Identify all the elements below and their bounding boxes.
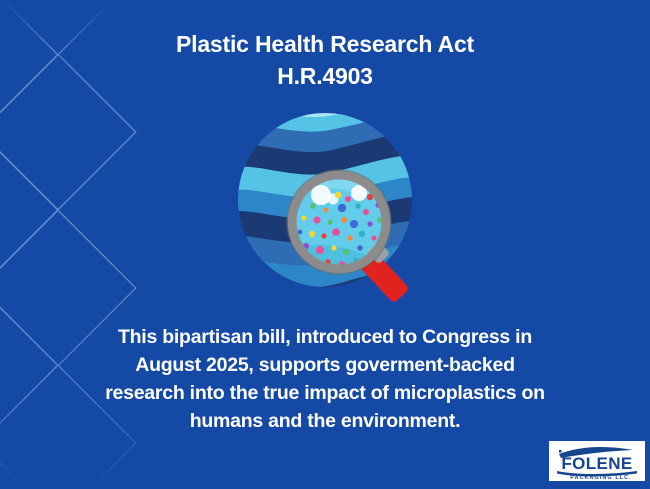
body-line-2: August 2025, supports goverment-backed <box>60 351 590 379</box>
body-copy: This bipartisan bill, introduced to Cong… <box>60 323 590 435</box>
folene-brand-text: FOLENE <box>561 454 632 473</box>
body-line-3: research into the true impact of micropl… <box>60 379 590 407</box>
title-line-act-name: Plastic Health Research Act <box>0 28 650 60</box>
title-line-bill-number: H.R.4903 <box>0 60 650 92</box>
microplastics-illustration <box>218 100 433 310</box>
body-line-4: humans and the environment. <box>60 407 590 435</box>
folene-logo-mark: FOLENE PACKAGING LLC. <box>549 441 645 481</box>
body-line-1: This bipartisan bill, introduced to Cong… <box>60 323 590 351</box>
folene-logo: FOLENE PACKAGING LLC. FOLENE PACKAGING L… <box>549 441 645 481</box>
folene-tagline-text: PACKAGING LLC. <box>570 475 631 481</box>
page-title: Plastic Health Research Act H.R.4903 <box>0 28 650 92</box>
infographic-canvas: Plastic Health Research Act H.R.4903 <box>0 0 650 489</box>
